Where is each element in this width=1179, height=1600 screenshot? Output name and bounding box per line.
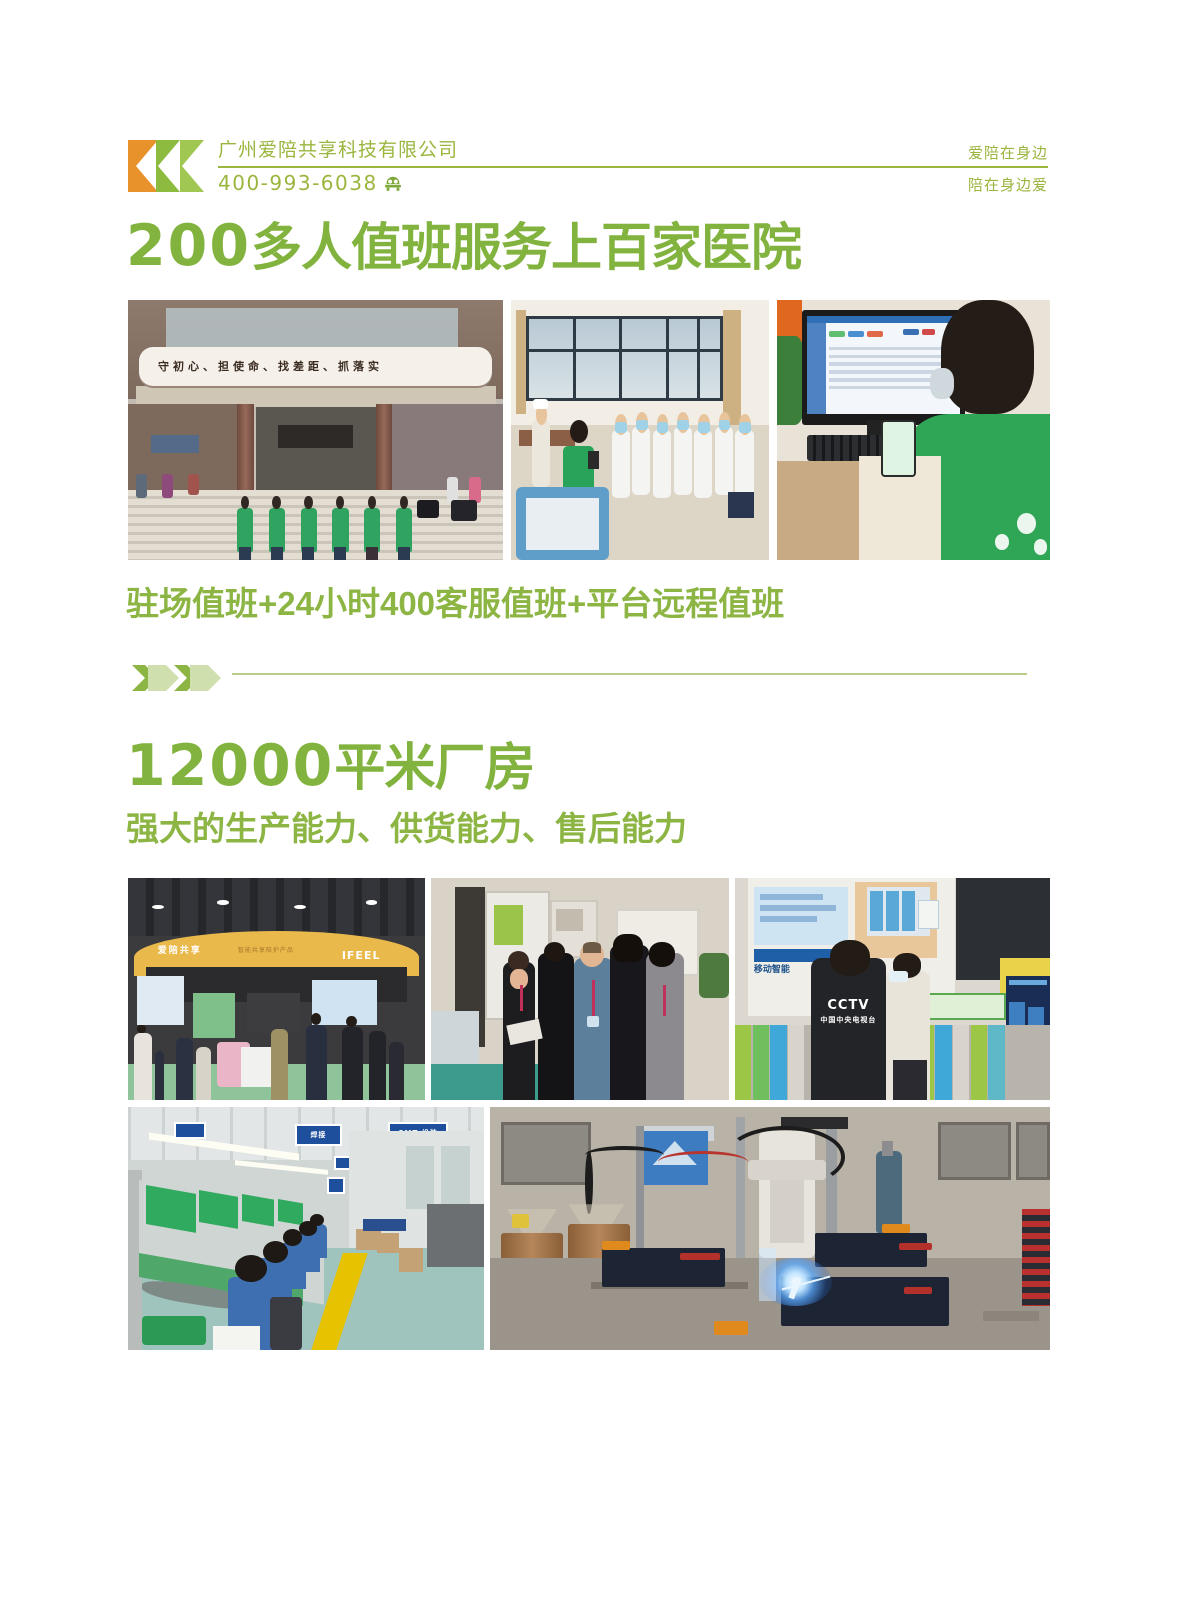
booth-brand-en: IFEEL — [342, 949, 407, 967]
page-header: 广州爱陪共享科技有限公司 400-993-6038 爱陪在身边 陪在身边爱 — [128, 136, 1048, 198]
factory-sign-welding: 焊接 — [295, 1124, 341, 1146]
photo-welding-robot — [490, 1107, 1050, 1350]
hotline-text: 400-993-6038 — [218, 171, 378, 195]
divider-line — [232, 673, 1027, 675]
section1-title-number: 200 — [126, 213, 251, 279]
photo-nurse-training — [511, 300, 769, 560]
photo-service-agent — [777, 300, 1050, 560]
double-chevron-divider-icon — [132, 665, 227, 691]
photo-exhibition-booth: 爱陪共享 智能共享陪护产品 IFEEL — [128, 878, 425, 1100]
booth-brand-name: 爱陪共享 — [158, 940, 235, 958]
photo-booth-meeting — [431, 878, 729, 1100]
section1-title-text: 多人值班服务上百家医院 — [251, 219, 801, 276]
cctv-vest-text: CCTV 中国中央电视台 — [817, 998, 880, 1029]
factory-sign-0 — [174, 1122, 206, 1139]
section1-title: 200多人值班服务上百家医院 — [126, 216, 801, 278]
section1-photo-row: 守初心、担使命、找差距、抓落实 — [128, 300, 1050, 560]
header-divider-rule — [218, 166, 1048, 168]
section2-title: 12000平米厂房 — [126, 736, 534, 798]
section-divider — [132, 659, 1032, 689]
section2-title-text: 平米厂房 — [334, 739, 534, 796]
cctv-logo-text: CCTV — [827, 998, 869, 1013]
section2-subtitle: 强大的生产能力、供货能力、售后能力 — [126, 808, 687, 850]
section2-photo-row-2: 焊接 SMT 组装 — [128, 1107, 1050, 1350]
telephone-icon — [384, 174, 402, 196]
section1-subtitle: 驻场值班+24小时400客服值班+平台远程值班 — [126, 583, 784, 625]
booth-tagline: 智能共享陪护产品 — [238, 945, 315, 956]
section2-title-number: 12000 — [126, 733, 334, 799]
photo-factory-assembly-line: 焊接 SMT 组装 — [128, 1107, 484, 1350]
marketing-brochure-page: 广州爱陪共享科技有限公司 400-993-6038 爱陪在身边 陪在身边爱 20… — [0, 0, 1179, 1600]
photo-hospital-entrance: 守初心、担使命、找差距、抓落实 — [128, 300, 503, 560]
company-name: 广州爱陪共享科技有限公司 — [218, 140, 458, 162]
slogan-line-1: 爱陪在身边 — [968, 142, 1048, 163]
photo-cctv-interview: 移动智能 CCTV 中国中央电视台 — [735, 878, 1050, 1100]
triple-chevron-logo-icon — [128, 140, 210, 192]
cctv-subtext: 中国中央电视台 — [817, 1015, 880, 1025]
section2-photo-row-1: 爱陪共享 智能共享陪护产品 IFEEL — [128, 878, 1050, 1100]
slogan-line-2: 陪在身边爱 — [968, 174, 1048, 195]
hospital-banner-text: 守初心、担使命、找差距、抓落实 — [158, 352, 473, 381]
hotline-number: 400-993-6038 — [218, 172, 402, 196]
